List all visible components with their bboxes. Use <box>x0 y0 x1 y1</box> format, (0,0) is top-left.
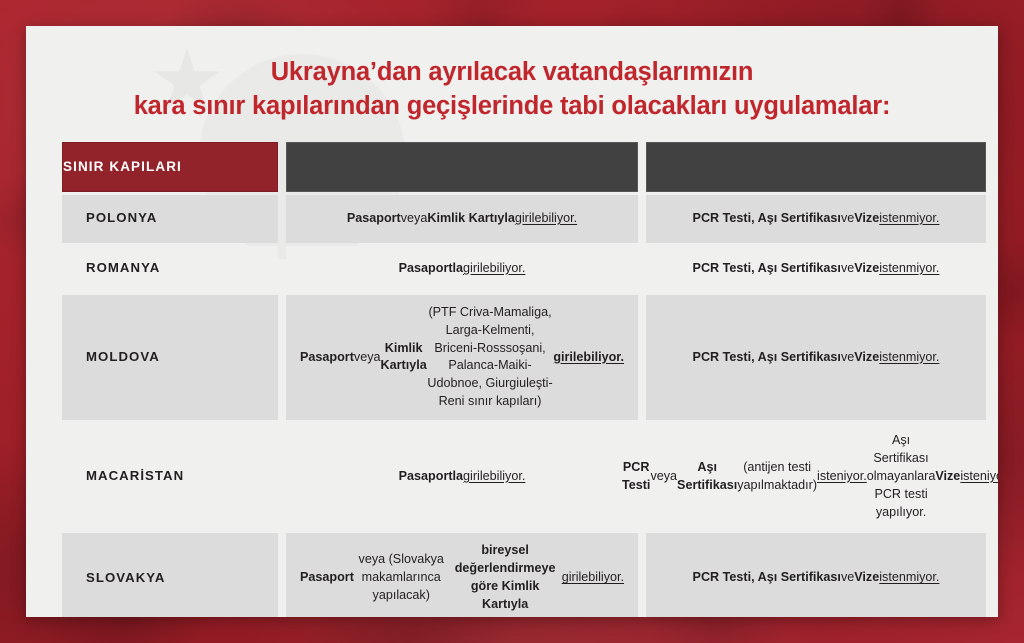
row-requirements: PCR Testi, Aşı Sertifikası ve Vize isten… <box>646 295 986 420</box>
row-entry-document: Pasaport veya Kimlik Kartıyla girilebili… <box>286 195 638 243</box>
row-country-name: SLOVAKYA <box>62 533 278 617</box>
title-line-2: kara sınır kapılarından geçişlerinde tab… <box>66 90 958 124</box>
row-country-name: POLONYA <box>62 195 278 243</box>
row-requirements: PCR Testi, Aşı Sertifikası ve Vize isten… <box>646 246 986 292</box>
table-row: MACARİSTAN Pasaportla girilebiliyor. PCR… <box>62 423 962 530</box>
row-entry-document: Pasaportla girilebiliyor. <box>286 246 638 292</box>
table-header-row: SINIR KAPILARI <box>62 142 962 192</box>
row-entry-document: Pasaportla girilebiliyor. <box>286 423 638 530</box>
column-header-border-crossings: SINIR KAPILARI <box>62 142 278 192</box>
column-header-entry-document <box>286 142 638 192</box>
row-requirements: PCR Testi veya Aşı Sertifikası (antijen … <box>646 423 986 530</box>
row-country-name: ROMANYA <box>62 246 278 292</box>
column-header-test-vaccine-visa <box>646 142 986 192</box>
border-crossings-table: SINIR KAPILARI POLONYA Pasaport veya Kim… <box>62 142 962 617</box>
page-title: Ukrayna’dan ayrılacak vatandaşlarımızın … <box>26 26 998 124</box>
row-entry-document: Pasaport veya (Slovakya makamlarınca yap… <box>286 533 638 617</box>
table-row: MOLDOVA Pasaport veya Kimlik Kartıyla (P… <box>62 295 962 420</box>
table-row: SLOVAKYA Pasaport veya (Slovakya makamla… <box>62 533 962 617</box>
infographic-card: Ukrayna’dan ayrılacak vatandaşlarımızın … <box>26 26 998 617</box>
row-requirements: PCR Testi, Aşı Sertifikası ve Vize isten… <box>646 195 986 243</box>
row-entry-document: Pasaport veya Kimlik Kartıyla (PTF Criva… <box>286 295 638 420</box>
row-country-name: MACARİSTAN <box>62 423 278 530</box>
table-row: POLONYA Pasaport veya Kimlik Kartıyla gi… <box>62 195 962 243</box>
title-line-1: Ukrayna’dan ayrılacak vatandaşlarımızın <box>66 56 958 90</box>
row-requirements: PCR Testi, Aşı Sertifikası ve Vize isten… <box>646 533 986 617</box>
row-country-name: MOLDOVA <box>62 295 278 420</box>
table-row: ROMANYA Pasaportla girilebiliyor. PCR Te… <box>62 246 962 292</box>
